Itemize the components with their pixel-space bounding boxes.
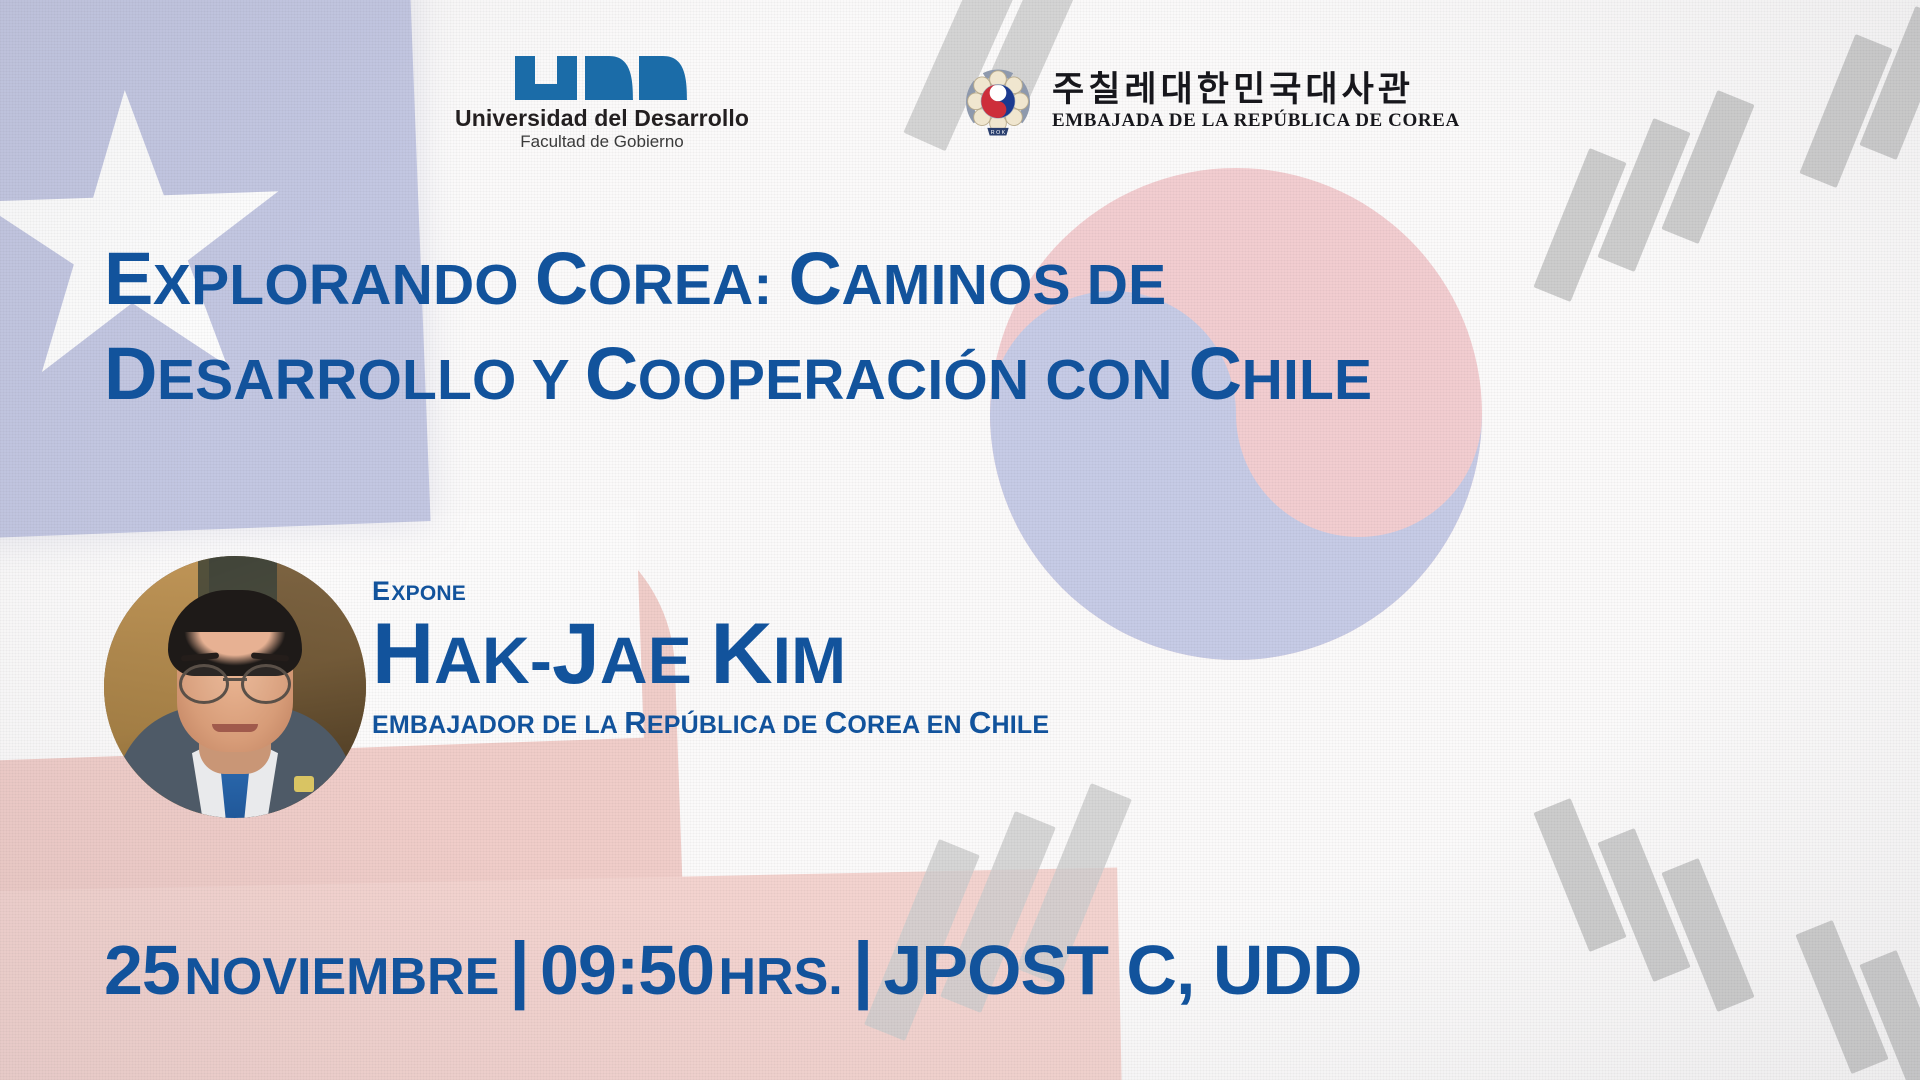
event-poster: Universidad del Desarrollo Facultad de G… xyxy=(0,0,1920,1080)
photo-eyeglasses xyxy=(179,664,291,698)
event-time: 09:50 xyxy=(540,931,714,1009)
speaker-name: HAK-JAE KIM xyxy=(372,611,1049,699)
udd-name: Universidad del Desarrollo xyxy=(452,106,752,130)
event-details-bar: 25 NOVIEMBRE|09:50 HRS.|JPOST C, UDD xyxy=(104,932,1362,1006)
glasses-lens-right xyxy=(241,664,291,704)
speaker-block: EXPONE HAK-JAE KIM EMBAJADOR DE LA REPÚB… xyxy=(372,578,1049,741)
svg-text:R O K: R O K xyxy=(991,130,1006,136)
event-time-unit: HRS. xyxy=(718,948,842,1006)
event-month: NOVIEMBRE xyxy=(184,948,499,1006)
poster-title: EXPLORANDO COREA: CAMINOS DE DESARROLLO … xyxy=(104,232,1524,421)
event-venue: JPOST C, UDD xyxy=(883,931,1361,1009)
title-line-1: EXPLORANDO COREA: CAMINOS DE xyxy=(104,232,1524,327)
glasses-lens-left xyxy=(179,664,229,704)
title-line-2: DESARROLLO Y COOPERACIÓN CON CHILE xyxy=(104,327,1524,422)
udd-faculty: Facultad de Gobierno xyxy=(452,131,752,152)
photo-mouth xyxy=(212,724,258,732)
photo-flag-pin xyxy=(294,776,314,792)
speaker-photo xyxy=(104,556,366,818)
embassy-logo: R O K 주칠레대한민국대사관 EMBAJADA DE LA REPÚBLIC… xyxy=(960,64,1460,140)
embassy-name-korean: 주칠레대한민국대사관 xyxy=(1052,72,1460,109)
korea-national-emblem-icon: R O K xyxy=(960,64,1036,140)
speaker-role: EMBAJADOR DE LA REPÚBLICA DE COREA EN CH… xyxy=(372,705,1049,741)
embassy-text: 주칠레대한민국대사관 EMBAJADA DE LA REPÚBLICA DE C… xyxy=(1052,72,1460,133)
poster-content: Universidad del Desarrollo Facultad de G… xyxy=(0,0,1920,1080)
separator-1: | xyxy=(509,927,530,1010)
udd-logo-mark-icon xyxy=(513,54,691,102)
separator-2: | xyxy=(853,927,874,1010)
speaker-label: EXPONE xyxy=(372,578,1049,605)
embassy-name-spanish: EMBAJADA DE LA REPÚBLICA DE COREA xyxy=(1052,110,1460,132)
event-date: 25 xyxy=(104,931,180,1009)
logo-row: Universidad del Desarrollo Facultad de G… xyxy=(0,28,1920,148)
udd-logo: Universidad del Desarrollo Facultad de G… xyxy=(452,54,752,152)
